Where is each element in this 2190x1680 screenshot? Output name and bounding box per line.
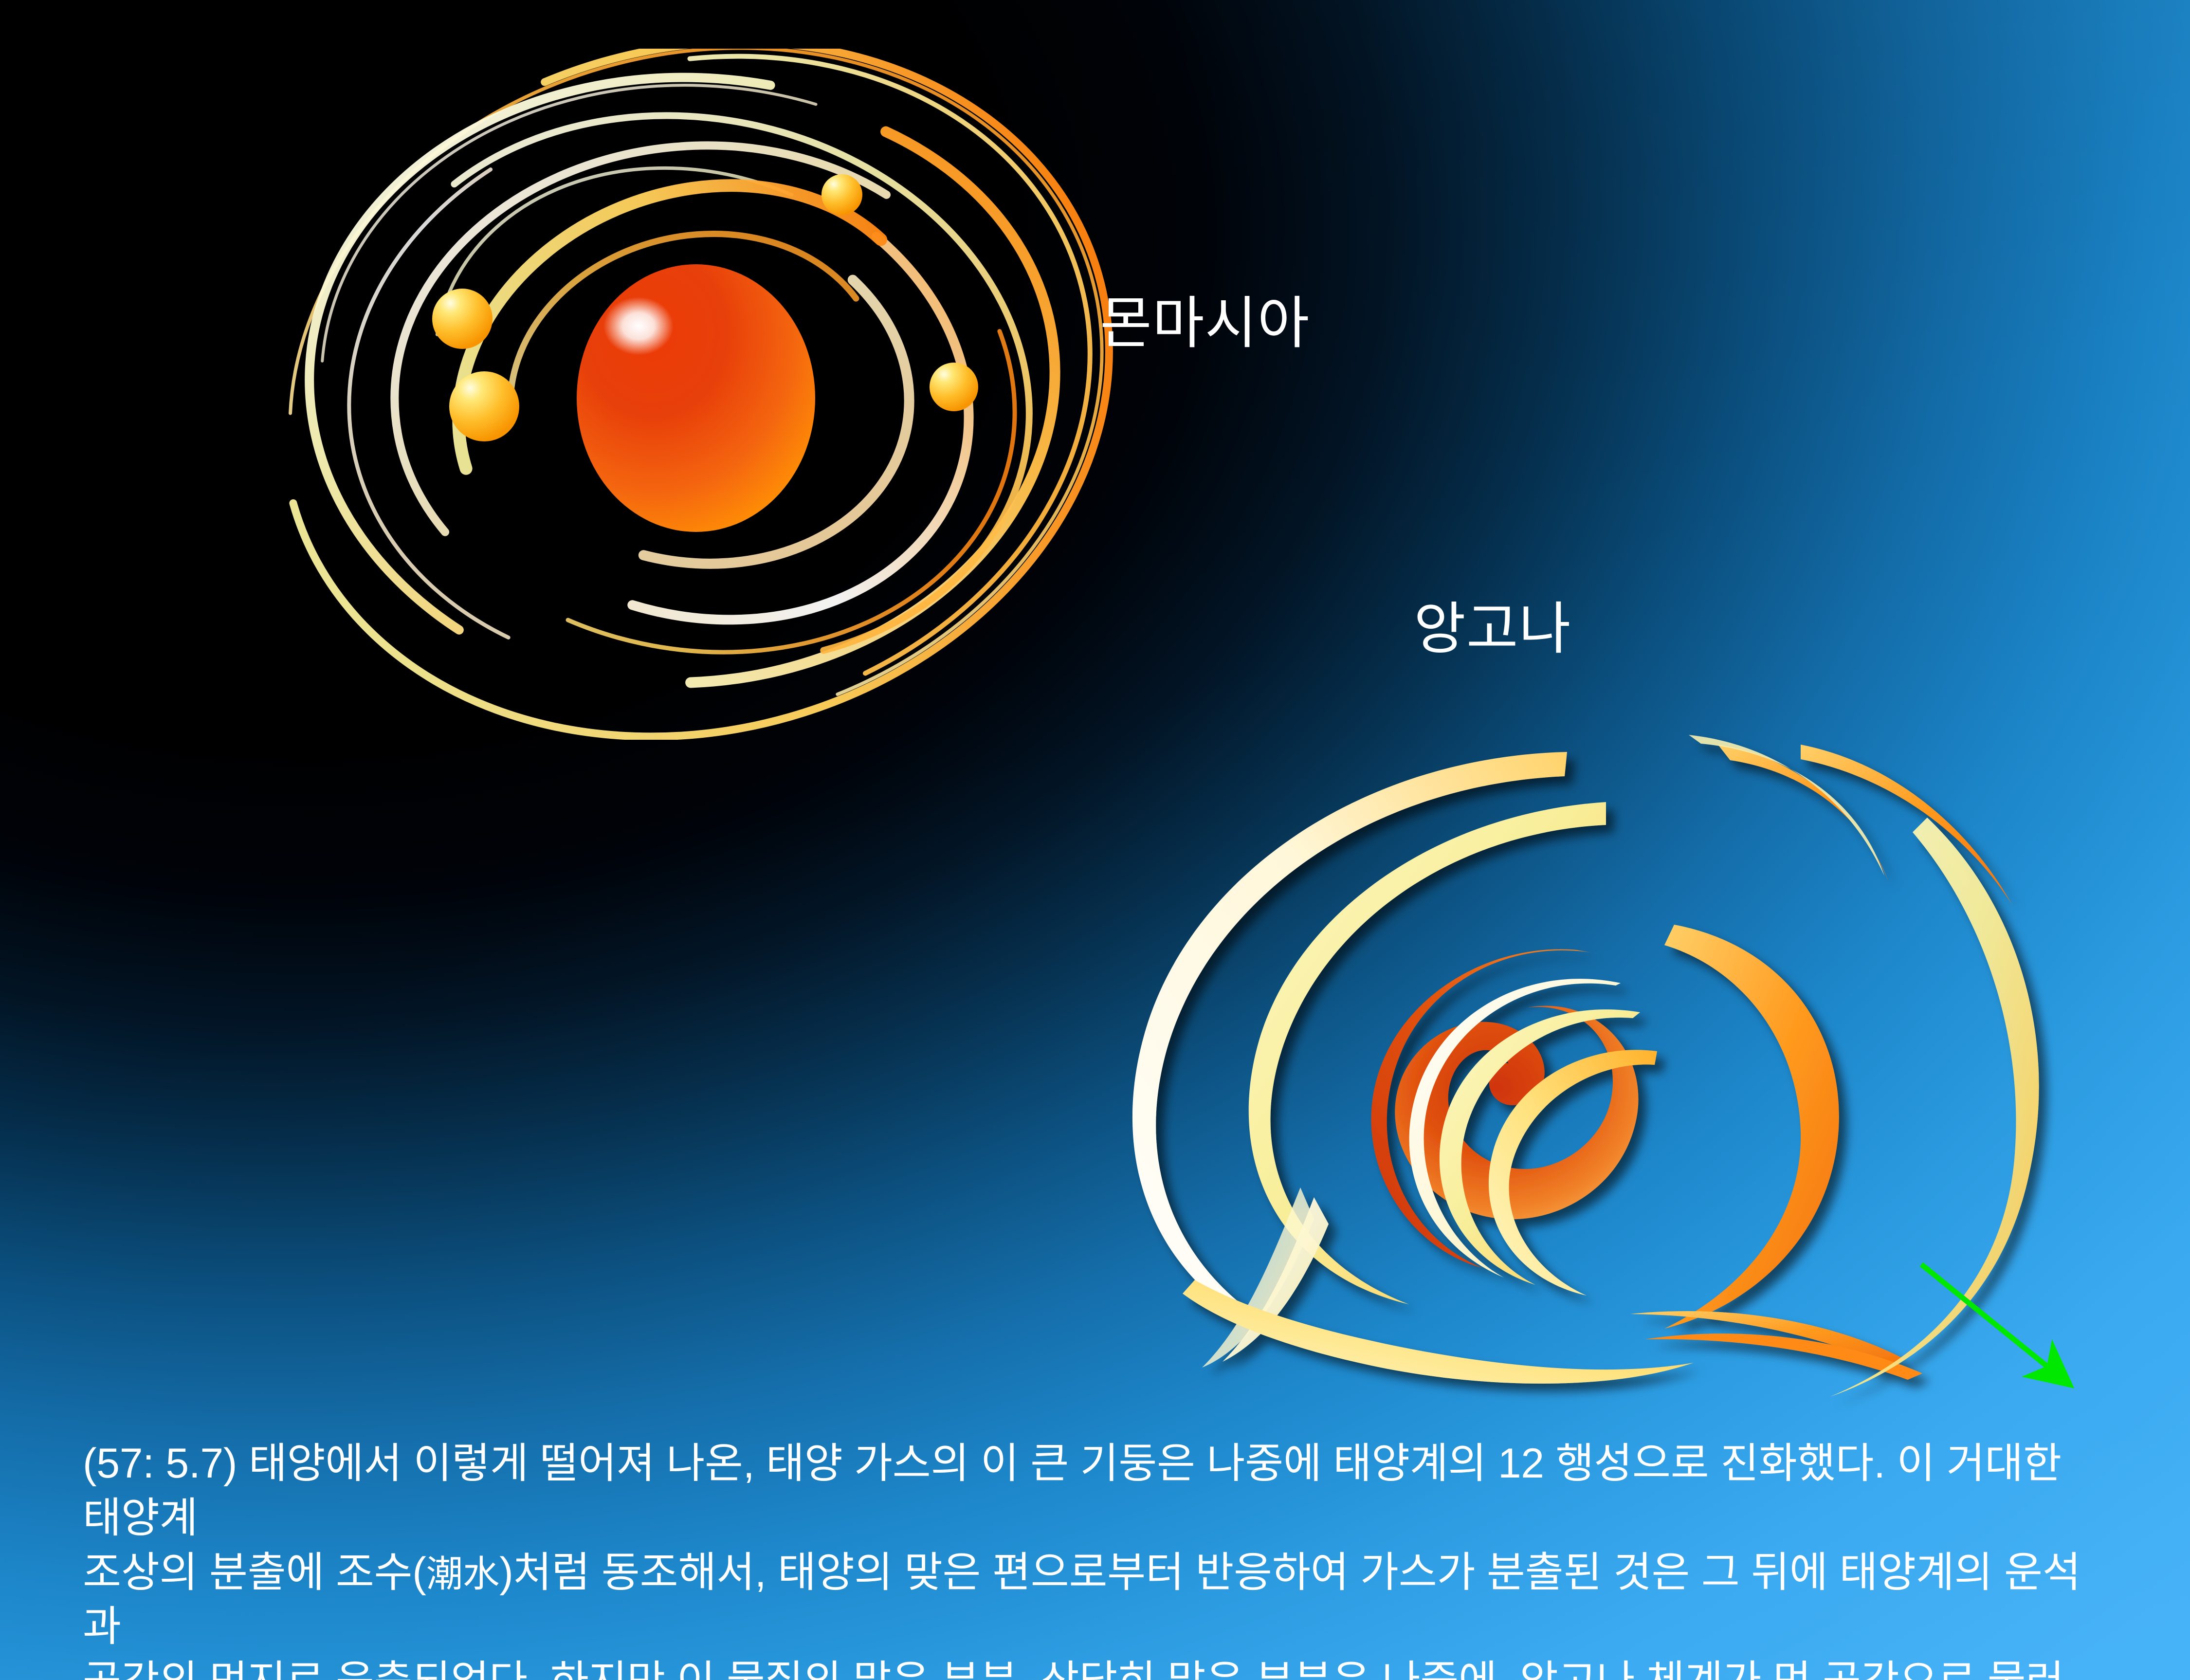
- body-text-line-3: 공간의 먼지로 응축되었다. 하지만 이 물질의 많은 부분, 상당히 많은 부…: [83, 1654, 2088, 1680]
- label-galaxy-angona: 앙고나: [1414, 583, 1571, 665]
- body-text-block: (57: 5.7) 태양에서 이렇게 떨어져 나온, 태양 가스의 이 큰 기둥…: [83, 1437, 2088, 1680]
- body-text-line-1: (57: 5.7) 태양에서 이렇게 떨어져 나온, 태양 가스의 이 큰 기둥…: [83, 1437, 2088, 1546]
- label-solar-system-monmatia: 몬마시아: [1100, 277, 1310, 359]
- slide-canvas: 몬마시아 앙고나 (57: 5.7) 태양에서 이렇게 떨어져 나온, 태양 가…: [0, 0, 2190, 1680]
- body-text-line-2-part-a: 조상의 분출에 조수(: [83, 1549, 426, 1596]
- background-overlay-gradient: [0, 0, 2190, 1680]
- body-text-line-2: 조상의 분출에 조수(潮水)처럼 동조해서, 태양의 맞은 편으로부터 반응하여…: [83, 1546, 2088, 1655]
- hanja-chosu: 潮水: [426, 1552, 500, 1595]
